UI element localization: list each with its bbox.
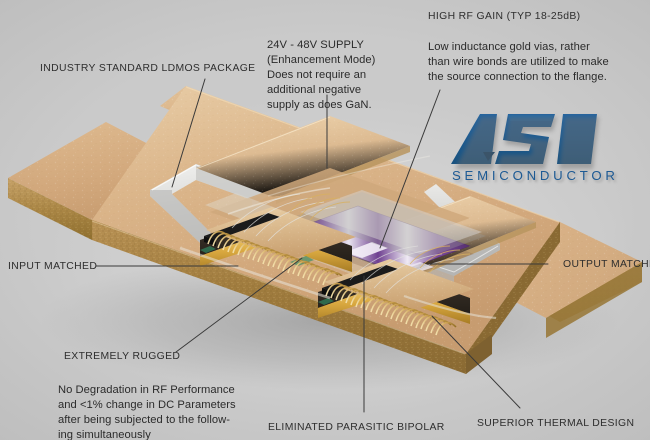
- callout-eliminated-parasitic-bipolar: ELIMINATED PARASITIC BIPOLAR: [268, 421, 445, 434]
- callout-input-matched: INPUT MATCHED: [8, 260, 97, 273]
- callout-gold-vias: Low inductance gold vias, rather than wi…: [428, 40, 624, 85]
- asi-logo: SEMICONDUCTOR SEMICONDUCTOR: [450, 112, 602, 188]
- callout-rf-gain: HIGH RF GAIN (TYP 18-25dB): [428, 10, 580, 23]
- callout-extremely-rugged: EXTREMELY RUGGED: [64, 350, 180, 363]
- callout-output-matched: OUTPUT MATCHED: [563, 258, 650, 271]
- asi-logo-tagline: SEMICONDUCTOR: [452, 168, 619, 183]
- callout-superior-thermal: SUPERIOR THERMAL DESIGN: [477, 417, 634, 430]
- callout-no-degradation: No Degradation in RF Performance and <1%…: [58, 383, 268, 440]
- diagram-canvas: INDUSTRY STANDARD LDMOS PACKAGE 24V - 48…: [0, 0, 650, 440]
- callout-ldmos-package: INDUSTRY STANDARD LDMOS PACKAGE: [40, 62, 255, 75]
- callout-supply: 24V - 48V SUPPLY (Enhancement Mode) Does…: [267, 38, 375, 112]
